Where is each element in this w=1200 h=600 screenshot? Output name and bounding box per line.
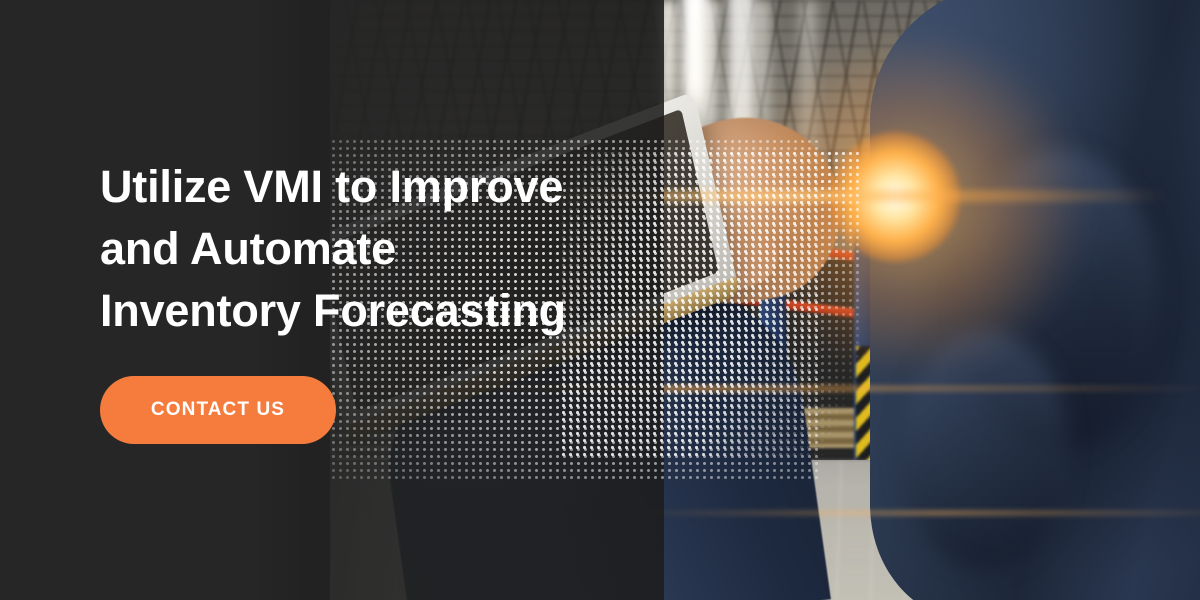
page-title: Utilize VMI to Improve and Automate Inve… bbox=[100, 156, 620, 342]
contact-us-button[interactable]: CONTACT US bbox=[100, 376, 336, 444]
hero-content: Utilize VMI to Improve and Automate Inve… bbox=[100, 0, 620, 600]
hero-banner: Utilize VMI to Improve and Automate Inve… bbox=[0, 0, 1200, 600]
lens-streak bbox=[630, 510, 1200, 516]
